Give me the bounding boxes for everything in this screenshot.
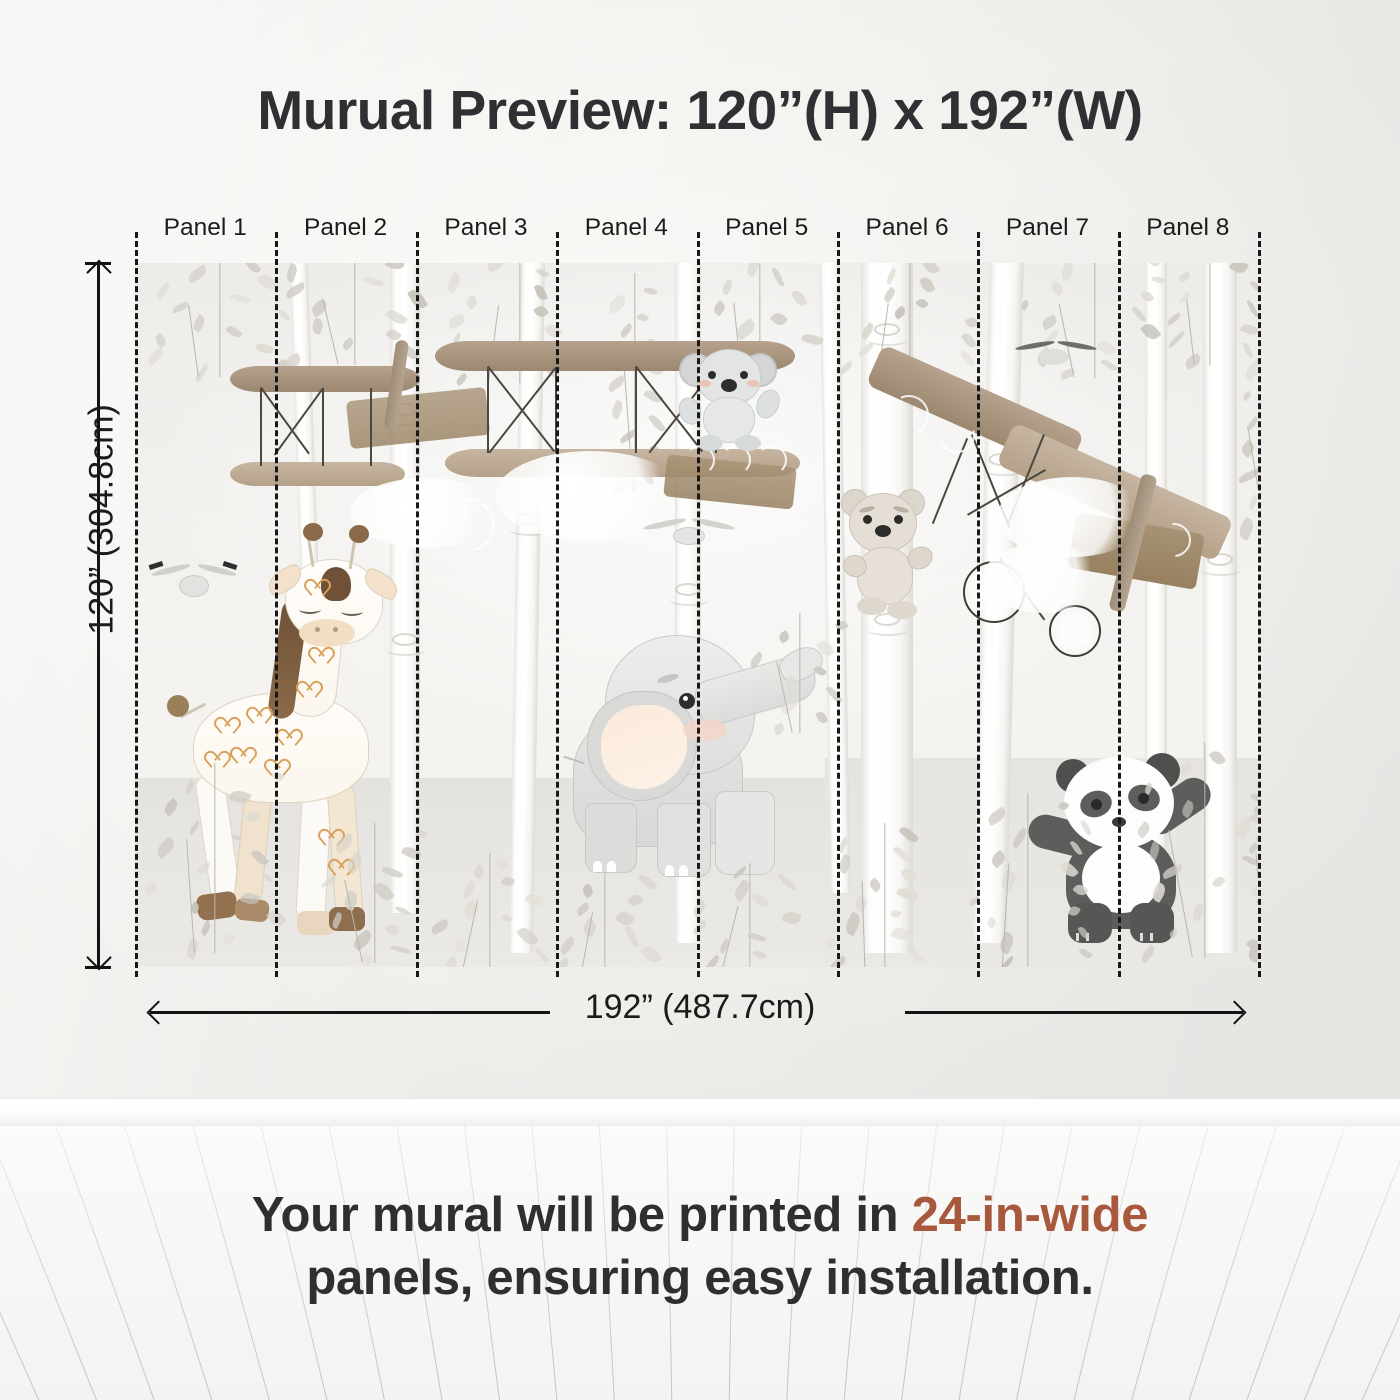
foliage-leaf [1077,925,1089,940]
caption-line-2: panels, ensuring easy installation. [0,1247,1400,1310]
panel-label-2: Panel 2 [276,214,416,242]
foliage-leaf [989,849,1008,868]
foliage-leaf [1178,271,1191,282]
foliage-leaf [155,282,172,300]
foliage-leaf [343,851,365,875]
foliage-leaf [443,956,459,967]
caption-line-1: Your mural will be printed in 24-in-wide [0,1184,1400,1247]
foliage-stem [749,863,750,967]
foliage-leaf [525,892,546,908]
foliage-leaf [890,925,911,943]
foliage-leaf [1240,322,1258,337]
foliage-leaf [310,317,325,335]
panel-divider-2 [416,232,419,977]
foliage-leaf [255,341,274,356]
foliage-leaf [144,881,159,896]
foliage-stem [776,662,792,733]
foliage-leaf [777,872,796,892]
giraffe-heart-spot [315,649,332,664]
foliage-leaf [1249,279,1258,295]
foliage-leaf [817,639,835,658]
foliage-leaf [516,924,539,948]
foliage-leaf [162,798,180,817]
giraffe-heart-spot [283,731,300,746]
foliage-sprig [1155,263,1258,365]
foliage-leaf [1233,816,1255,840]
foliage-leaf [1242,358,1258,382]
foliage-leaf [500,875,514,888]
foliage-leaf [1229,263,1250,276]
panel-label-8: Panel 8 [1118,214,1258,242]
foliage-stem [1209,263,1210,365]
foliage-leaf [390,943,412,955]
foliage-leaf [752,948,766,961]
foliage-leaf [884,267,898,285]
giraffe-heart-spot [221,719,238,734]
foliage-leaf [385,307,408,327]
mural-preview-area: Murual Preview: 120”(H) x 192”(W) [0,0,1400,1100]
foliage-leaf [1147,841,1162,860]
foliage-leaf [905,944,923,965]
foliage-leaf [341,337,355,350]
foliage-leaf [226,324,243,340]
panel-label-6: Panel 6 [837,214,977,242]
ground-foliage [963,793,1093,967]
panel-divider-1 [275,232,278,977]
foliage-leaf [892,305,907,320]
foliage-leaf [1096,338,1117,359]
foliage-leaf [228,788,251,806]
foliage-leaf [395,905,410,917]
panel-divider-3 [556,232,559,977]
foliage-leaf [373,880,395,903]
foliage-leaf [857,342,876,358]
foliage-stem [354,263,355,365]
foliage-stem [489,853,490,967]
foliage-leaf [240,890,260,907]
foliage-stem [219,263,220,377]
foliage-leaf [145,347,166,366]
foliage-leaf [385,263,406,272]
foliage-stem [322,300,338,365]
plane-wheel [1049,605,1101,657]
foliage-leaf [720,279,735,296]
flying-bird [1015,341,1095,375]
foliage-leaf [964,315,978,328]
foliage-leaf [614,908,634,928]
plane-lower-wing [230,462,405,486]
foliage-leaf [384,922,400,938]
foliage-leaf [1131,305,1146,323]
width-dimension-label: 192” (487.7cm) [0,988,1400,1027]
foliage-leaf [1081,819,1093,836]
foliage-leaf [1040,315,1058,331]
foliage-leaf [985,807,1008,827]
foliage-leaf [777,630,790,643]
foliage-leaf [350,929,374,951]
foliage-leaf [245,810,260,824]
panel-label-4: Panel 4 [556,214,696,242]
foliage-leaf [333,833,356,855]
foliage-leaf [1161,863,1184,879]
foliage-stem [374,823,375,963]
foliage-leaf [627,892,644,909]
foliage-leaf [153,332,168,348]
foliage-leaf [580,883,595,899]
ground-foliage [695,863,805,967]
foliage-leaf [196,861,212,875]
foliage-leaf [1208,749,1225,767]
hanging-foliage [1245,353,1258,533]
foliage-leaf [250,848,269,868]
foliage-leaf [535,267,550,280]
panel-divider-0 [135,232,138,977]
biplane-center [435,341,825,541]
foliage-leaf [575,902,591,917]
foliage-leaf [899,825,919,845]
foliage-leaf [1247,494,1258,510]
foliage-leaf [625,925,639,948]
foliage-leaf [1079,946,1094,960]
foliage-leaf [1059,263,1075,282]
foliage-leaf [1150,882,1168,903]
foliage-stem [214,763,215,953]
caption-block: Your mural will be printed in 24-in-wide… [0,1184,1400,1309]
panel-divider-4 [697,232,700,977]
foliage-leaf [1057,801,1069,813]
foliage-stem [884,823,885,967]
foliage-leaf [825,684,843,704]
ground-foliage [145,763,285,953]
foliage-leaf [330,912,343,929]
foliage-leaf [1049,280,1065,296]
foliage-leaf [892,845,911,865]
foliage-leaf [703,955,722,967]
panel-label-5: Panel 5 [697,214,837,242]
foliage-leaf [900,866,917,884]
foliage-leaf [781,909,802,927]
foliage-leaf [1167,331,1186,349]
giraffe-heart-spot [303,683,320,698]
foliage-leaf [382,865,404,880]
foliage-leaf [636,312,649,324]
foliage-stem [799,613,800,733]
foliage-stem [1027,793,1028,967]
foliage-leaf [638,872,657,891]
koala-character [681,347,777,451]
foliage-leaf [534,284,548,302]
foliage-leaf [1168,928,1180,939]
foliage-leaf [263,872,273,883]
bear-cub-character [837,485,947,625]
foliage-leaf [1166,312,1183,326]
foliage-leaf [1140,289,1155,304]
height-dimension-label: 120” (304.8cm) [83,360,122,680]
foliage-leaf [881,286,896,302]
flying-bird [643,517,733,557]
foliage-leaf [770,309,788,327]
foliage-leaf [154,836,177,858]
foliage-leaf [222,932,236,946]
ground-foliage [825,823,945,967]
foliage-leaf [1178,291,1192,304]
foliage-leaf [184,779,195,794]
ground-foliage [755,613,845,733]
foliage-leaf [284,282,307,300]
foliage-leaf [896,885,919,903]
panel-divider-6 [977,232,980,977]
foliage-leaf [867,877,883,893]
foliage-leaf [229,292,250,306]
foliage-leaf [1020,299,1031,311]
foliage-leaf [919,276,936,295]
foliage-leaf [1067,905,1081,919]
foliage-leaf [363,275,385,289]
foliage-leaf [401,844,423,862]
foliage-leaf [471,864,486,879]
caption-accent: 24-in-wide [912,1188,1149,1242]
foliage-leaf [1180,800,1197,819]
panel-label-7: Panel 7 [977,214,1117,242]
foliage-leaf [1059,859,1079,879]
panel-label-1: Panel 1 [135,214,275,242]
foliage-leaf [921,263,941,277]
foliage-leaf [545,321,563,340]
panel-divider-8 [1258,232,1261,977]
foliage-leaf [859,322,876,341]
flying-bird [153,563,233,607]
foliage-stem [723,906,739,967]
foliage-leaf [465,294,481,310]
foliage-leaf [1143,783,1153,795]
baseboard [0,1098,1400,1126]
foliage-leaf [842,912,863,937]
caption-line-1-pre: Your mural will be printed in [252,1188,912,1242]
foliage-leaf [915,297,929,311]
foliage-stem [604,873,605,967]
foliage-leaf [1246,298,1258,317]
ground-foliage [435,853,545,967]
foliage-leaf [783,675,798,691]
foliage-leaf [711,300,728,317]
foliage-leaf [813,664,828,678]
foliage-leaf [1070,840,1084,857]
foliage-leaf [619,323,635,339]
foliage-leaf [444,272,463,294]
foliage-leaf [816,710,828,724]
panel-divider-7 [1118,232,1121,977]
foliage-leaf [890,908,903,920]
foliage-leaf [1072,882,1089,898]
foliage-leaf [778,696,800,715]
foliage-leaf [245,263,261,275]
foliage-leaf [772,266,785,287]
foliage-leaf [320,876,339,889]
foliage-leaf [191,315,207,333]
foliage-leaf [199,921,213,937]
foliage-stem [1204,743,1205,958]
giraffe-heart-spot [311,581,328,596]
panel-label-3: Panel 3 [416,214,556,242]
ground-foliage [555,873,655,967]
foliage-leaf [186,264,210,284]
foliage-stem [862,881,866,967]
foliage-leaf [791,288,808,307]
foliage-leaf [752,891,769,909]
foliage-leaf [1178,760,1195,777]
ground-foliage [1225,783,1258,958]
foliage-leaf [732,865,748,879]
giraffe-heart-spot [237,749,254,764]
foliage-leaf [1135,821,1152,839]
foliage-leaf [501,913,513,924]
foliage-leaf [558,936,578,956]
foliage-leaf [1100,358,1117,373]
foliage-leaf [533,304,549,320]
foliage-leaf [172,301,191,314]
foliage-leaf [188,820,201,835]
page-title: Murual Preview: 120”(H) x 192”(W) [0,78,1400,142]
foliage-leaf [985,916,998,929]
giraffe-heart-spot [253,709,270,724]
foliage-stem [186,839,195,953]
foliage-leaf [232,833,242,842]
foliage-leaf [962,331,978,349]
foliage-leaf [285,263,301,283]
panel-divider-5 [837,232,840,977]
foliage-leaf [461,881,478,901]
foliage-leaf [997,931,1017,954]
foliage-leaf [486,263,506,272]
foliage-leaf [446,314,465,329]
foliage-leaf [960,350,975,368]
foliage-leaf [1249,883,1258,899]
foliage-leaf [494,855,509,871]
